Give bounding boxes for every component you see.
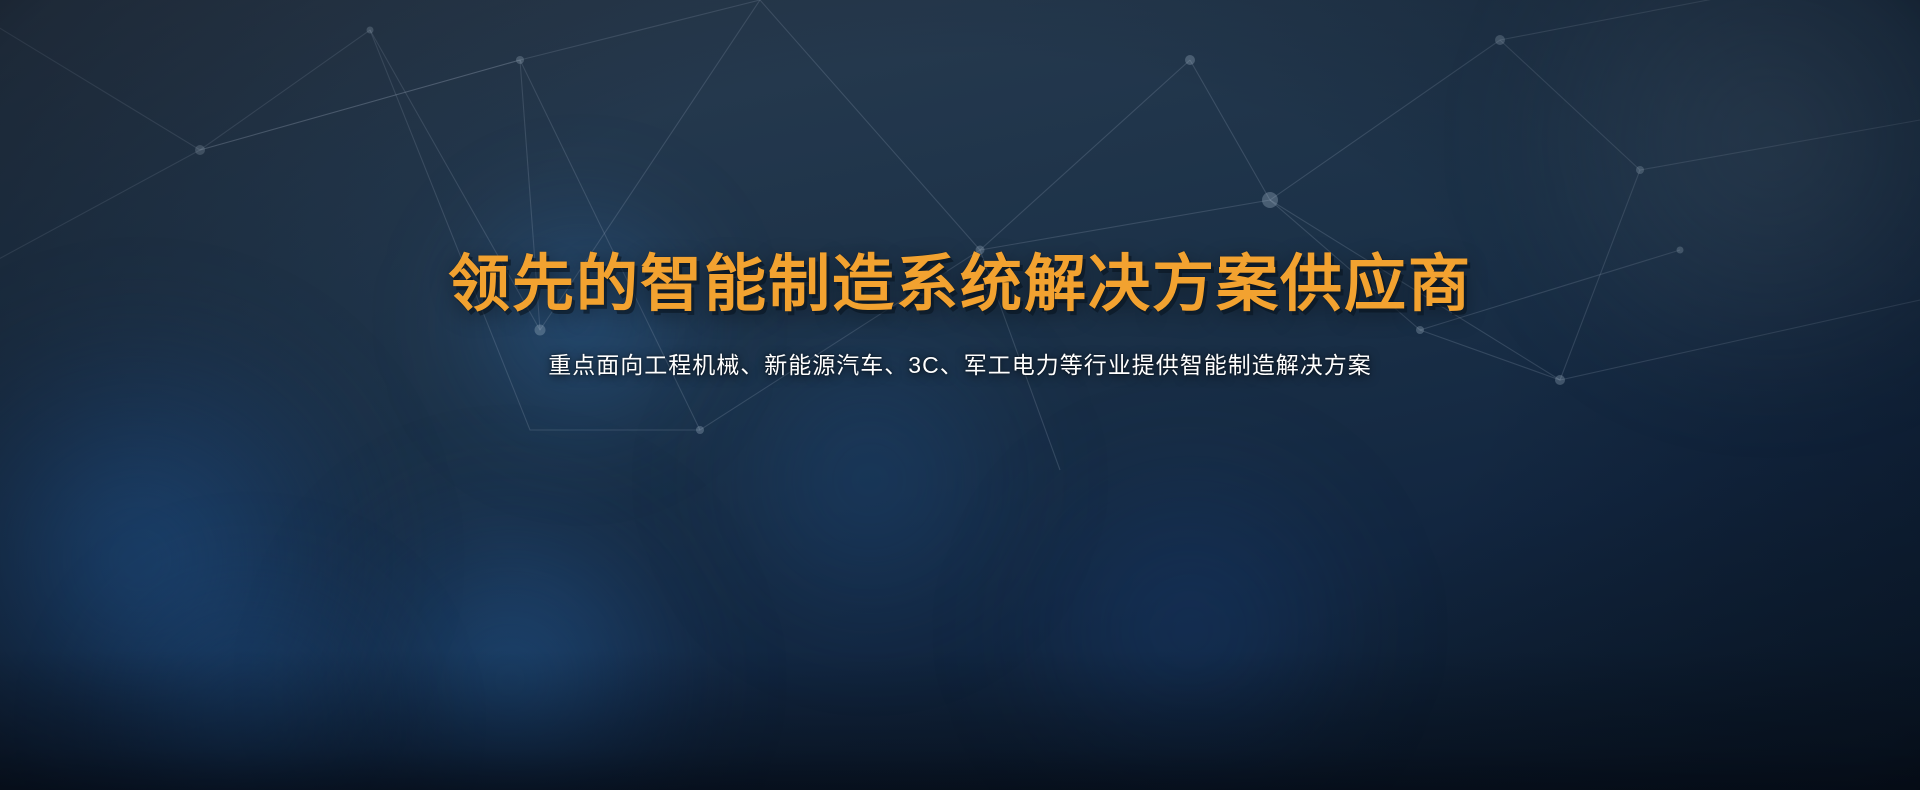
glow-blob: [980, 440, 1400, 790]
vignette-overlay: [0, 0, 1920, 790]
bottom-fade: [0, 650, 1920, 790]
glow-blob: [300, 470, 720, 790]
network-overlay-faint: [0, 0, 1920, 790]
glow-blob: [60, 560, 440, 790]
page-subtitle: 重点面向工程机械、新能源汽车、3C、军工电力等行业提供智能制造解决方案: [0, 346, 1920, 380]
page-title: 领先的智能制造系统解决方案供应商: [0, 252, 1920, 318]
hero-banner: .ln { fill:none; stroke:#E0952C; stroke-…: [0, 0, 1920, 790]
hero-copy: 领先的智能制造系统解决方案供应商 重点面向工程机械、新能源汽车、3C、军工电力等…: [0, 252, 1920, 380]
